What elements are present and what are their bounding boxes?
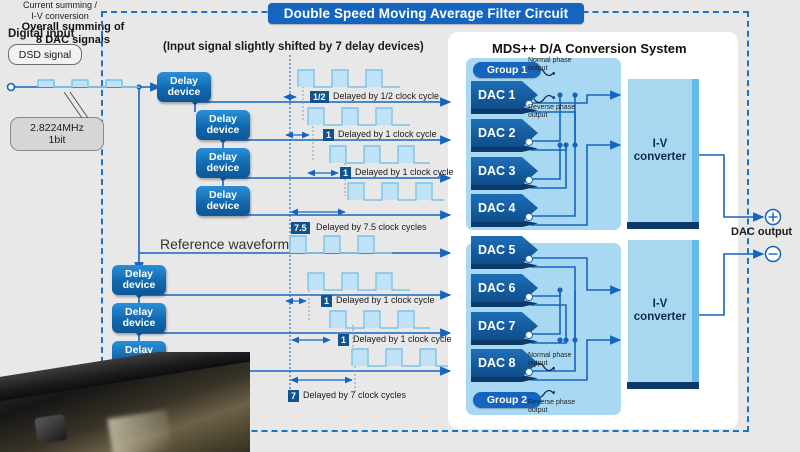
delay-tag-value-7: 7 <box>288 390 299 402</box>
dac-label: DAC 8 <box>478 356 516 370</box>
dac-label: DAC 6 <box>478 281 516 295</box>
delay-device-5[interactable]: Delay device <box>112 265 166 295</box>
waveform-delay-1 <box>298 70 400 87</box>
delay-tag-text-4: Delayed by 7.5 clock cycles <box>316 222 427 232</box>
delay-device-label: device <box>168 87 201 99</box>
dac-label: DAC 4 <box>478 201 516 215</box>
delay-device-label: device <box>207 201 240 213</box>
delay-tag-text-6: Delayed by 1 clock cycle <box>353 334 452 344</box>
iv-converter-2[interactable]: I-V converter <box>628 240 692 382</box>
output-terminal-positive <box>766 210 781 225</box>
reverse-phase-line1: Reverse phase <box>528 399 575 407</box>
iv-label-line1: I-V <box>653 138 668 151</box>
delay-tag-value-4: 7.5 <box>291 222 310 234</box>
delay-tag-text-3: Delayed by 1 clock cycle <box>355 167 454 177</box>
delay-tag-text-2: Delayed by 1 clock cycle <box>338 129 437 139</box>
iv1-side <box>692 79 699 222</box>
reverse-phase-icon-g1 <box>534 96 554 103</box>
delay-device-label: device <box>123 318 156 330</box>
normal-phase-label-g1: Normal phase output <box>528 57 572 73</box>
delay-tag-value-3: 1 <box>340 167 351 179</box>
dac3-output-node <box>525 176 533 184</box>
reverse-phase-line2: output <box>528 407 575 415</box>
dac-label: DAC 2 <box>478 126 516 140</box>
dac-label: DAC 5 <box>478 243 516 257</box>
waveform-delay-3 <box>330 146 430 163</box>
delay-device-1[interactable]: Delay device <box>157 72 211 102</box>
normal-phase-line1: Normal phase <box>528 57 572 65</box>
reverse-phase-line1: Reverse phase <box>528 104 575 112</box>
photo-knob <box>34 414 68 444</box>
delay-device-2[interactable]: Delay device <box>196 110 250 140</box>
delay-tag-value-1: 1/2 <box>310 91 329 103</box>
normal-phase-line1: Normal phase <box>528 352 572 360</box>
dac-label: DAC 3 <box>478 164 516 178</box>
iv1-shadow <box>627 222 699 229</box>
delay-tag-text-7: Delayed by 7 clock cycles <box>303 390 406 400</box>
dac8-output-node <box>525 368 533 376</box>
delay-device-label: device <box>123 280 156 292</box>
reverse-phase-line2: output <box>528 112 575 120</box>
product-photo-overlay <box>0 352 250 452</box>
iv2-shadow <box>627 382 699 389</box>
dac-label: DAC 7 <box>478 319 516 333</box>
dac7-output-node <box>525 331 533 339</box>
waveform-delay-5 <box>308 273 410 290</box>
iv-converter-1[interactable]: I-V converter <box>628 79 692 222</box>
normal-phase-label-g2: Normal phase output <box>528 352 572 368</box>
waveform-input <box>38 80 140 87</box>
dac5-output-node <box>525 255 533 263</box>
reverse-phase-label-g1: Reverse phase output <box>528 104 575 120</box>
delay-device-6[interactable]: Delay device <box>112 303 166 333</box>
reverse-phase-label-g2: Reverse phase output <box>528 399 575 415</box>
dac-label: DAC 1 <box>478 88 516 102</box>
iv-label-line1: I-V <box>653 298 668 311</box>
delay-tag-value-2: 1 <box>323 129 334 141</box>
dac6-output-node <box>525 293 533 301</box>
delay-device-label: device <box>207 163 240 175</box>
delay-device-3[interactable]: Delay device <box>196 148 250 178</box>
delay-tag-text-5: Delayed by 1 clock cycle <box>336 295 435 305</box>
waveform-reference <box>290 236 392 253</box>
delay-tag-text-1: Delayed by 1/2 clock cycle <box>333 91 439 101</box>
iv-label-line2: converter <box>634 311 686 324</box>
waveform-delay-2 <box>308 108 410 125</box>
delay-tag-value-6: 1 <box>338 334 349 346</box>
diagram-root: Double Speed Moving Average Filter Circu… <box>0 0 800 452</box>
iv-label-line2: converter <box>634 151 686 164</box>
iv2-side <box>692 240 699 382</box>
output-terminal-negative <box>766 247 781 262</box>
delay-device-label: device <box>207 125 240 137</box>
waveform-delay-4 <box>348 183 444 200</box>
dac4-output-node <box>525 213 533 221</box>
waveform-delay-6 <box>330 311 430 328</box>
dac-output-label: DAC output <box>731 226 792 238</box>
normal-phase-line2: output <box>528 360 572 368</box>
normal-phase-line2: output <box>528 65 572 73</box>
dac2-output-node <box>525 138 533 146</box>
delay-tag-value-5: 1 <box>321 295 332 307</box>
delay-device-4[interactable]: Delay device <box>196 186 250 216</box>
waveform-delay-7 <box>352 349 448 366</box>
